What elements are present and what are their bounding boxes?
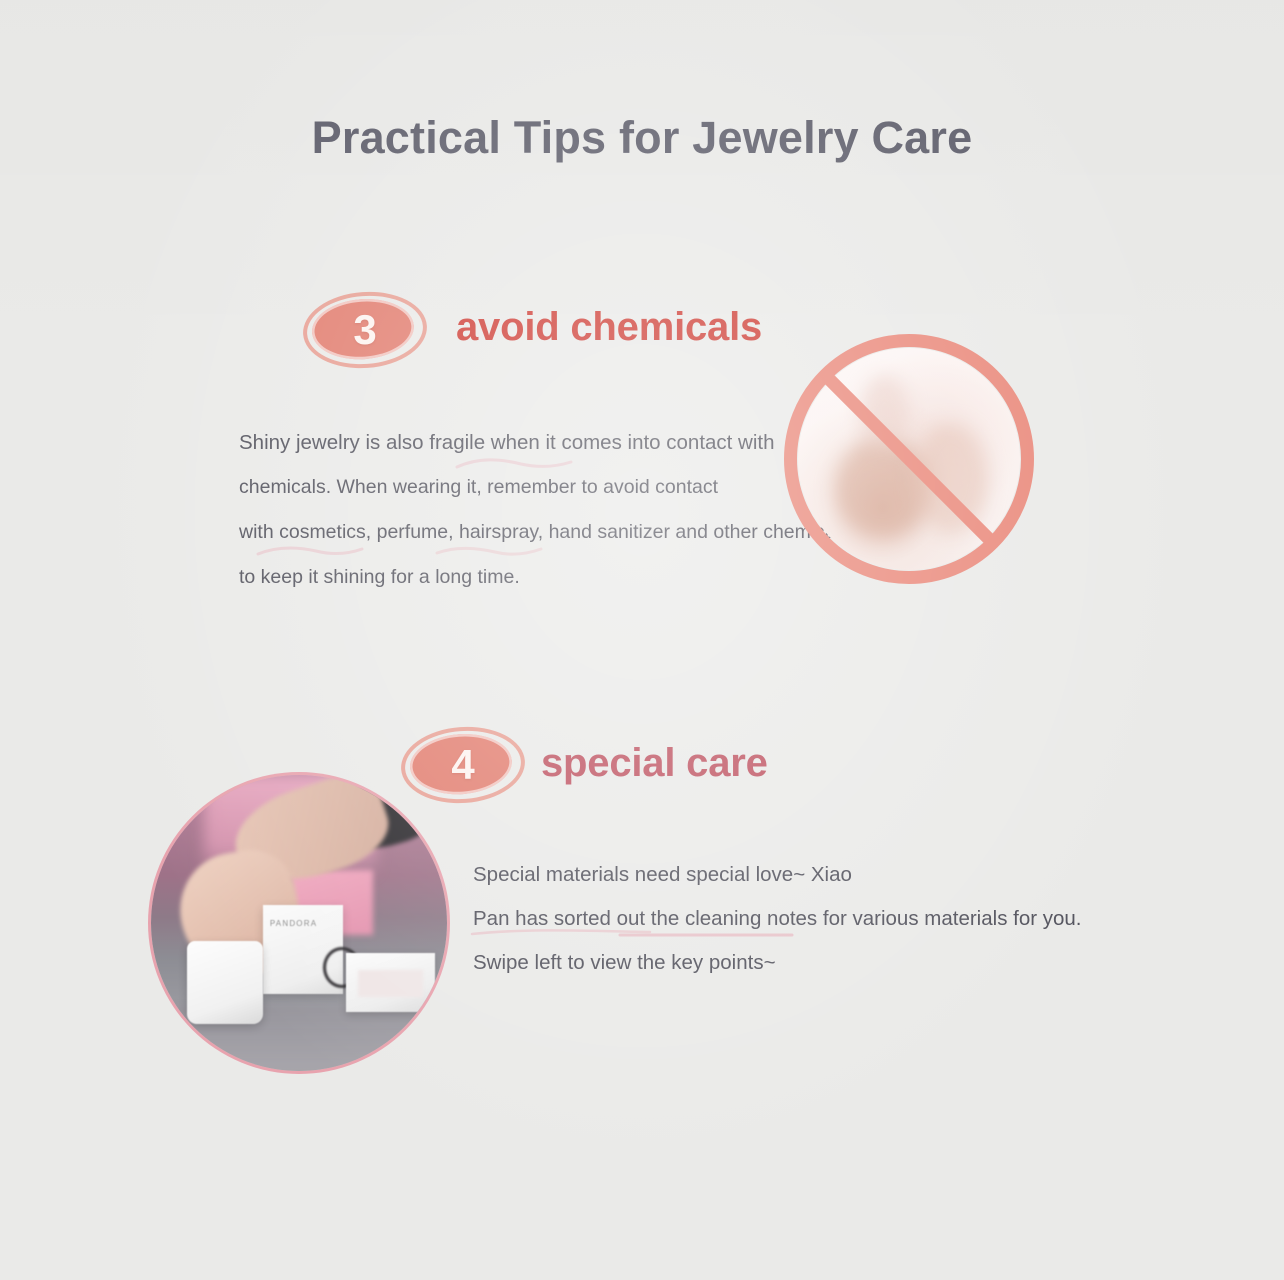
paragraph-line: with cosmetics, perfume, hairspray, hand… — [239, 510, 779, 555]
pandora-jar — [187, 941, 264, 1024]
section-heading-3: avoid chemicals — [456, 305, 762, 350]
paragraph-line: Pan has sorted out the cleaning notes fo… — [473, 897, 1073, 941]
no-chemicals-prohibition-icon — [784, 334, 1034, 584]
paragraph-line: Special materials need special love~ Xia… — [473, 853, 1073, 897]
section-paragraph-4: Special materials need special love~ Xia… — [473, 853, 1073, 985]
paragraph-line: Shiny jewelry is also fragile when it co… — [239, 420, 779, 465]
pandora-brand-text: PANDORA — [270, 919, 317, 928]
photo-scene: PANDORA — [151, 775, 447, 1071]
paragraph-line: to keep it shining for a long time. — [239, 555, 779, 600]
paragraph-line: Swipe left to view the key points~ — [473, 941, 1073, 985]
section-heading-4: special care — [541, 741, 768, 786]
slide-canvas: Practical Tips for Jewelry Care 3 avoid … — [0, 0, 1284, 1280]
page-title: Practical Tips for Jewelry Care — [0, 112, 1284, 164]
badge-number-3: 3 — [303, 292, 427, 368]
paragraph-line: chemicals. When wearing it, remember to … — [239, 465, 779, 510]
section-paragraph-3: Shiny jewelry is also fragile when it co… — [239, 420, 779, 600]
section-number-badge-3: 3 — [301, 288, 430, 372]
special-care-circular-photo: PANDORA — [151, 775, 447, 1071]
